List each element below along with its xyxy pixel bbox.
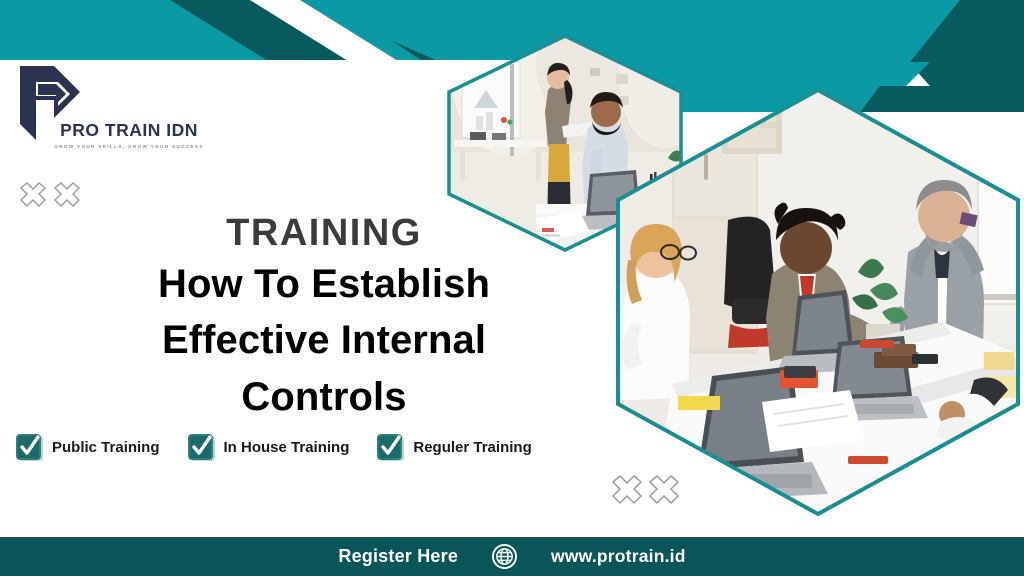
x-cross-outline-icon — [16, 182, 86, 218]
badge-label: Public Training — [52, 439, 160, 456]
footer-bar: Register Here www.protrain.id — [0, 537, 1024, 576]
checkbox-checked-icon[interactable] — [377, 434, 404, 461]
eyebrow-label: TRAINING — [0, 214, 648, 254]
brand-tagline: GROW YOUR SKILLS, GROW YOUR SUCCESS — [44, 144, 214, 149]
checkbox-checked-icon[interactable] — [16, 434, 43, 461]
headline-block: TRAINING How To Establish Effective Inte… — [0, 214, 648, 426]
page-title: How To Establish Effective Internal Cont… — [0, 256, 648, 426]
globe-icon — [492, 544, 517, 569]
page-title-line-2: Effective Internal — [0, 312, 648, 369]
poster-canvas: PRO TRAIN IDN GROW YOUR SKILLS, GROW YOU… — [0, 0, 1024, 576]
page-title-line-3: Controls — [0, 369, 648, 426]
register-here-cta[interactable]: Register Here — [338, 546, 458, 567]
hexagon-photo-office-meeting — [612, 84, 1024, 520]
badge-in-house-training[interactable]: In House Training — [188, 434, 350, 461]
training-type-list: Public Training In House Training Regule… — [16, 434, 532, 461]
badge-public-training[interactable]: Public Training — [16, 434, 160, 461]
badge-reguler-training[interactable]: Reguler Training — [377, 434, 531, 461]
badge-label: Reguler Training — [413, 439, 531, 456]
checkbox-checked-icon[interactable] — [188, 434, 215, 461]
website-url[interactable]: www.protrain.id — [551, 546, 686, 567]
brand-name: PRO TRAIN IDN — [44, 122, 214, 140]
page-title-line-1: How To Establish — [0, 256, 648, 313]
badge-label: In House Training — [224, 439, 350, 456]
brand-wordmark: PRO TRAIN IDN GROW YOUR SKILLS, GROW YOU… — [44, 122, 214, 149]
